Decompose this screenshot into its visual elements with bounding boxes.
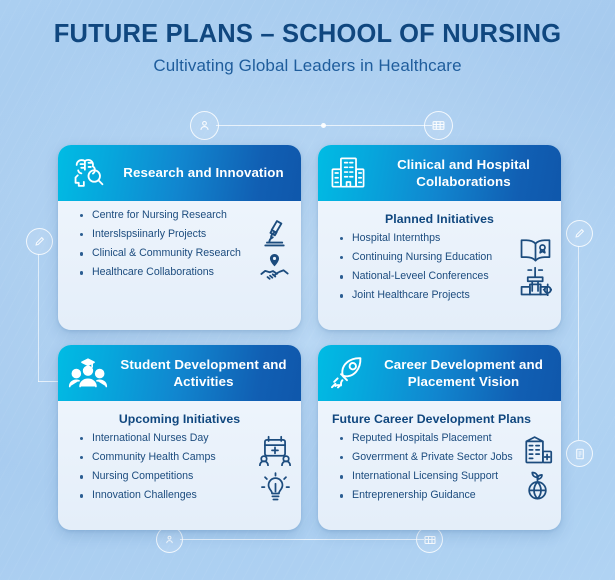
card-title: Research and Innovation bbox=[118, 164, 301, 181]
list-item: Community Health Camps bbox=[80, 452, 289, 463]
list-item: Continuing Nursing Education bbox=[340, 252, 549, 263]
list-item: International Licensing Support bbox=[340, 471, 549, 482]
page-header: FUTURE PLANS – SCHOOL OF NURSING Cultiva… bbox=[0, 20, 615, 76]
list-item: National-Leveel Conferences bbox=[340, 271, 549, 282]
card-header: Career Development and Placement Vision bbox=[318, 345, 561, 401]
top-connector-line bbox=[216, 125, 432, 126]
card-research-and-innovation[interactable]: Research and Innovation bbox=[58, 145, 301, 330]
page-title: FUTURE PLANS – SCHOOL OF NURSING bbox=[0, 20, 615, 49]
card-title: Career Development and Placement Vision bbox=[378, 356, 561, 390]
person-small-icon bbox=[156, 526, 183, 553]
card-bullet-list: Reputed Hospitals Placement Goverrment &… bbox=[330, 433, 549, 501]
grid-small-icon bbox=[416, 526, 443, 553]
card-bullet-list: Hospital Internthps Continuing Nursing E… bbox=[330, 233, 549, 301]
card-body: Centre for Nursing Research Interslspsii… bbox=[58, 201, 301, 330]
student-group-icon bbox=[58, 345, 118, 401]
list-item: Nursing Competitions bbox=[80, 471, 289, 482]
card-body: Future Career Development Plans bbox=[318, 401, 561, 530]
pen-icon-right bbox=[566, 220, 593, 247]
list-item: Entreprenership Guidance bbox=[340, 490, 549, 501]
card-student-development-and-activities[interactable]: Student Development and Activities Upcom… bbox=[58, 345, 301, 530]
left-connector-vertical bbox=[38, 254, 39, 382]
infographic-canvas: FUTURE PLANS – SCHOOL OF NURSING Cultiva… bbox=[0, 0, 615, 580]
list-item: Interslspsiinarly Projects bbox=[80, 229, 289, 240]
card-header: Clinical and Hospital Collaborations bbox=[318, 145, 561, 201]
list-item: Healthcare Collaborations bbox=[80, 267, 289, 278]
brain-search-icon bbox=[58, 145, 118, 201]
list-item: Hospital Internthps bbox=[340, 233, 549, 244]
card-header: Research and Innovation bbox=[58, 145, 301, 201]
card-career-development-and-placement-vision[interactable]: Career Development and Placement Vision … bbox=[318, 345, 561, 530]
list-item: Centre for Nursing Research bbox=[80, 210, 289, 221]
list-item: Reputed Hospitals Placement bbox=[340, 433, 549, 444]
list-item: Innovation Challenges bbox=[80, 490, 289, 501]
bottom-connector-line bbox=[180, 539, 424, 540]
list-item: Joint Healthcare Projects bbox=[340, 290, 549, 301]
page-subtitle: Cultivating Global Leaders in Healthcare bbox=[0, 56, 615, 76]
card-header: Student Development and Activities bbox=[58, 345, 301, 401]
top-connector-dot bbox=[321, 123, 326, 128]
hospital-building-icon bbox=[318, 145, 378, 201]
list-item: International Nurses Day bbox=[80, 433, 289, 444]
card-subheading: Future Career Development Plans bbox=[330, 412, 549, 426]
list-item: Clinical & Community Research bbox=[80, 248, 289, 259]
card-bullet-list: Centre for Nursing Research Interslspsii… bbox=[70, 210, 289, 278]
card-subheading: Planned Initiatives bbox=[330, 212, 549, 226]
card-clinical-and-hospital-collaborations[interactable]: Clinical and Hospital Collaborations Pla… bbox=[318, 145, 561, 330]
document-icon bbox=[566, 440, 593, 467]
right-connector-vertical bbox=[578, 246, 579, 440]
card-body-icons bbox=[519, 237, 552, 296]
card-title: Clinical and Hospital Collaborations bbox=[378, 156, 561, 190]
card-bullet-list: International Nurses Day Community Healt… bbox=[70, 433, 289, 501]
rocket-icon bbox=[318, 345, 378, 401]
list-item: Goverrment & Private Sector Jobs bbox=[340, 452, 549, 463]
pen-icon-left bbox=[26, 228, 53, 255]
card-body: Upcoming Initiatives bbox=[58, 401, 301, 530]
card-title: Student Development and Activities bbox=[118, 356, 301, 390]
grid-icon bbox=[424, 111, 453, 140]
person-icon bbox=[190, 111, 219, 140]
card-body: Planned Initiatives bbox=[318, 201, 561, 330]
card-subheading: Upcoming Initiatives bbox=[70, 412, 289, 426]
